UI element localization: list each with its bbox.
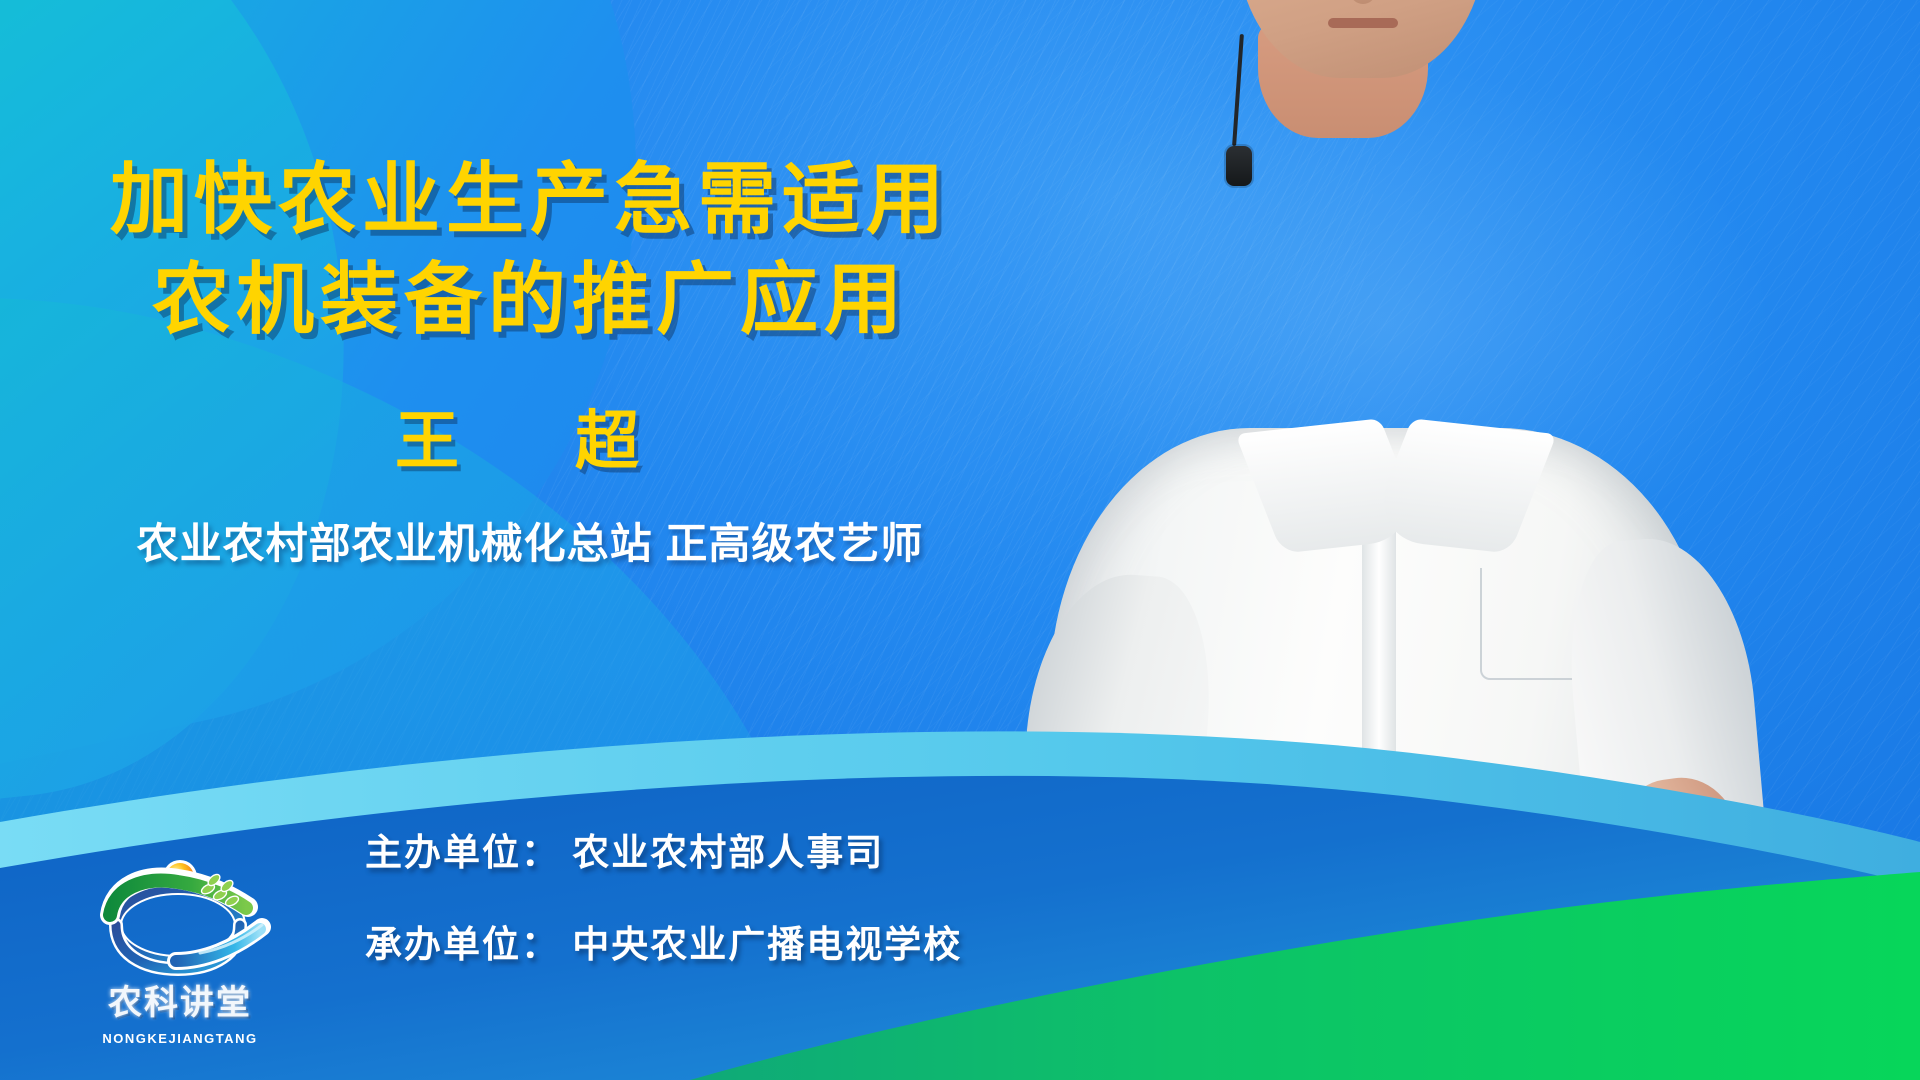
- credit-organizer: 主办单位： 农业农村部人事司: [365, 822, 962, 876]
- nongke-jiangtang-logo: 农科讲堂 NONGKEJIANGTANG: [80, 849, 280, 1054]
- title-line-2: 农机装备的推广应用: [0, 250, 1060, 350]
- credits-block: 主办单位： 农业农村部人事司 承办单位： 中央农业广播电视学校: [365, 822, 962, 968]
- logo-name-cn: 农科讲堂: [80, 975, 280, 1024]
- logo-name-pinyin: NONGKEJIANGTANG: [80, 1031, 280, 1046]
- credit-host: 承办单位： 中央农业广播电视学校: [365, 914, 962, 968]
- speaker-name: 王 超: [0, 390, 1060, 482]
- presentation-slide: 加快农业生产急需适用 农机装备的推广应用 王 超 农业农村部农业机械化总站 正高…: [0, 0, 1920, 1080]
- nose: [1350, 0, 1376, 4]
- lapel-microphone-icon: [1226, 146, 1252, 186]
- title-block: 加快农业生产急需适用 农机装备的推广应用 王 超 农业农村部农业机械化总站 正高…: [0, 150, 1060, 571]
- mouth: [1328, 18, 1398, 28]
- speaker-role: 农业农村部农业机械化总站 正高级农艺师: [0, 510, 1060, 571]
- title-line-1: 加快农业生产急需适用: [0, 150, 1060, 250]
